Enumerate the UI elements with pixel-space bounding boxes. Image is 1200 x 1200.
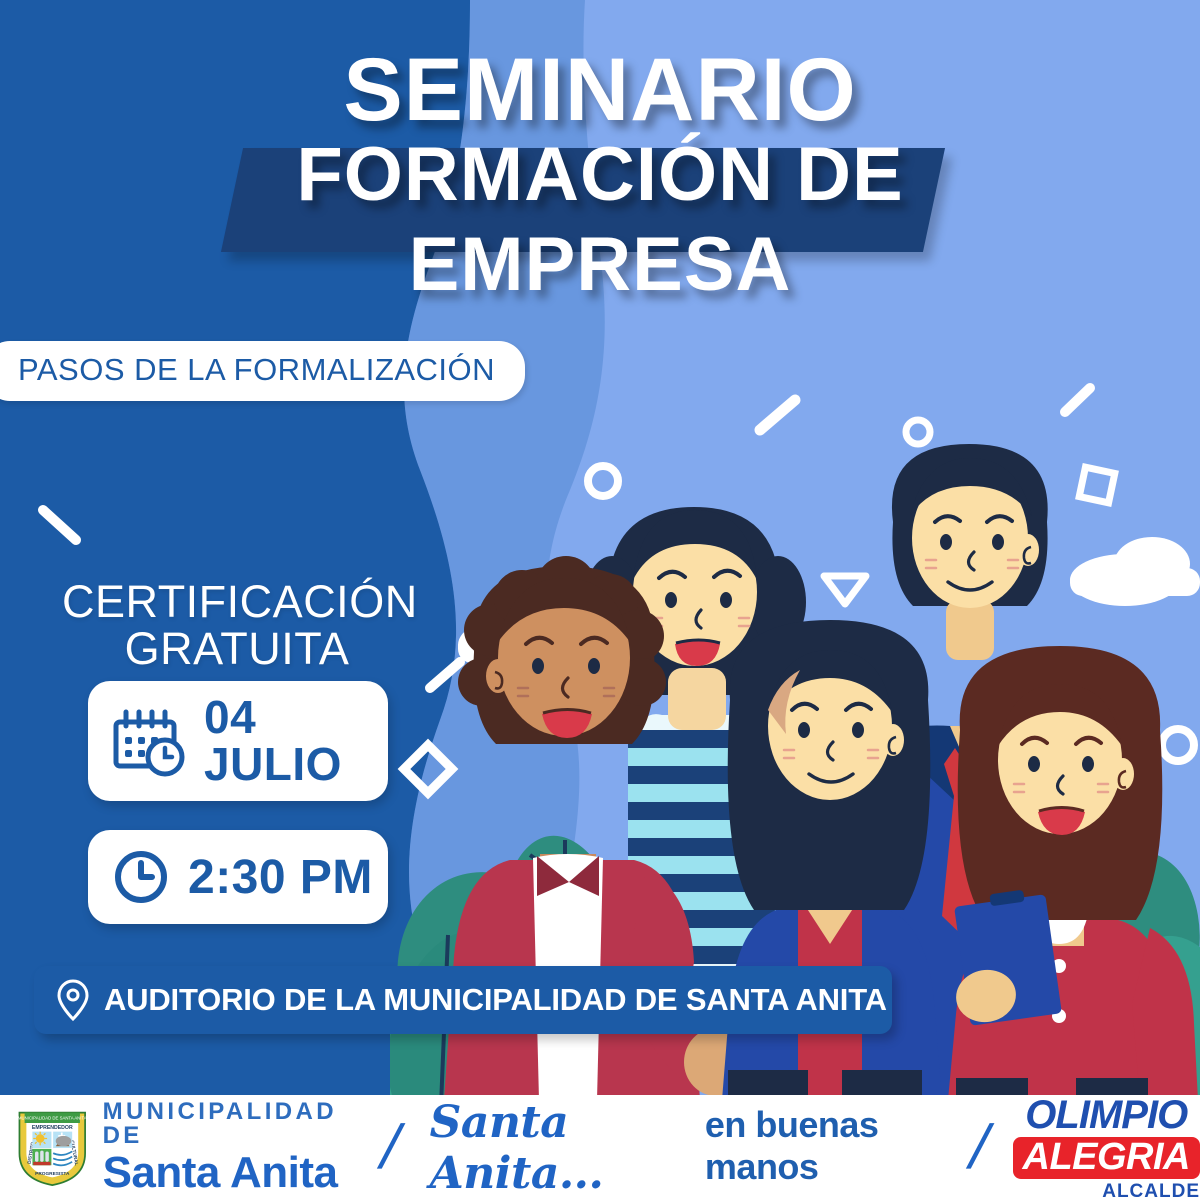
tagline-group: Santa Anita... en buenas manos <box>430 1097 948 1199</box>
location-bar: AUDITORIO DE LA MUNICIPALIDAD DE SANTA A… <box>34 966 892 1034</box>
svg-text:MUNICIPALIDAD DE SANTA ANITA: MUNICIPALIDAD DE SANTA ANITA <box>18 1115 87 1120</box>
mayor-first-name: OLIMPIO <box>1013 1095 1200 1135</box>
dash-icon <box>43 510 76 540</box>
date-text: 04 JULIO <box>204 694 342 788</box>
mayor-role: ALCALDE <box>1013 1182 1200 1200</box>
title-line-1: SEMINARIO <box>0 46 1200 132</box>
time-card: 2:30 PM <box>88 830 388 924</box>
svg-text:EMPRENDEDOR: EMPRENDEDOR <box>32 1124 73 1130</box>
mayor-lastname-box: ALEGRIA <box>1013 1137 1200 1179</box>
calendar-clock-icon <box>112 704 186 778</box>
clock-icon <box>114 850 168 904</box>
title-line-2: FORMACIÓN DE <box>0 138 1200 212</box>
date-card: 04 JULIO <box>88 681 388 801</box>
poster-canvas: SEMINARIO FORMACIÓN DE EMPRESA PASOS DE … <box>0 0 1200 1200</box>
time-text: 2:30 PM <box>188 850 373 905</box>
municipality-name: Santa Anita <box>103 1151 349 1195</box>
municipality-prefix: MUNICIPALIDAD DE <box>103 1100 349 1148</box>
tagline-script: Santa Anita... <box>430 1097 697 1199</box>
dash-icon <box>1065 388 1090 412</box>
tagline-bold: en buenas manos <box>705 1104 947 1188</box>
date-month: JULIO <box>204 741 342 788</box>
dash-icon <box>760 400 795 430</box>
mayor-last-name: ALEGRIA <box>1023 1136 1191 1178</box>
footer-bar: MUNICIPALIDAD DE SANTA ANITA EMPRENDEDOR… <box>0 1095 1200 1200</box>
certification-text: CERTIFICACIÓN GRATUITA <box>62 578 412 673</box>
subtitle-pill: PASOS DE LA FORMALIZACIÓN <box>0 341 525 401</box>
municipality-logo-group: MUNICIPALIDAD DE SANTA ANITA EMPRENDEDOR… <box>16 1100 348 1195</box>
santa-anita-coat-of-arms: MUNICIPALIDAD DE SANTA ANITA EMPRENDEDOR… <box>16 1102 89 1194</box>
certification-line-2: GRATUITA <box>62 625 412 672</box>
date-day: 04 <box>204 694 342 741</box>
footer-divider-1: / <box>375 1117 408 1179</box>
certification-line-1: CERTIFICACIÓN <box>62 578 412 625</box>
mayor-logo: OLIMPIO ALEGRIA ALCALDE <box>1013 1095 1200 1200</box>
location-text: AUDITORIO DE LA MUNICIPALIDAD DE SANTA A… <box>104 982 887 1018</box>
location-pin-icon <box>56 978 90 1022</box>
footer-divider-2: / <box>964 1117 997 1179</box>
title-line-3: EMPRESA <box>0 228 1200 302</box>
municipality-wordmark: MUNICIPALIDAD DE Santa Anita <box>103 1100 349 1195</box>
title-block: SEMINARIO FORMACIÓN DE EMPRESA <box>0 46 1200 302</box>
